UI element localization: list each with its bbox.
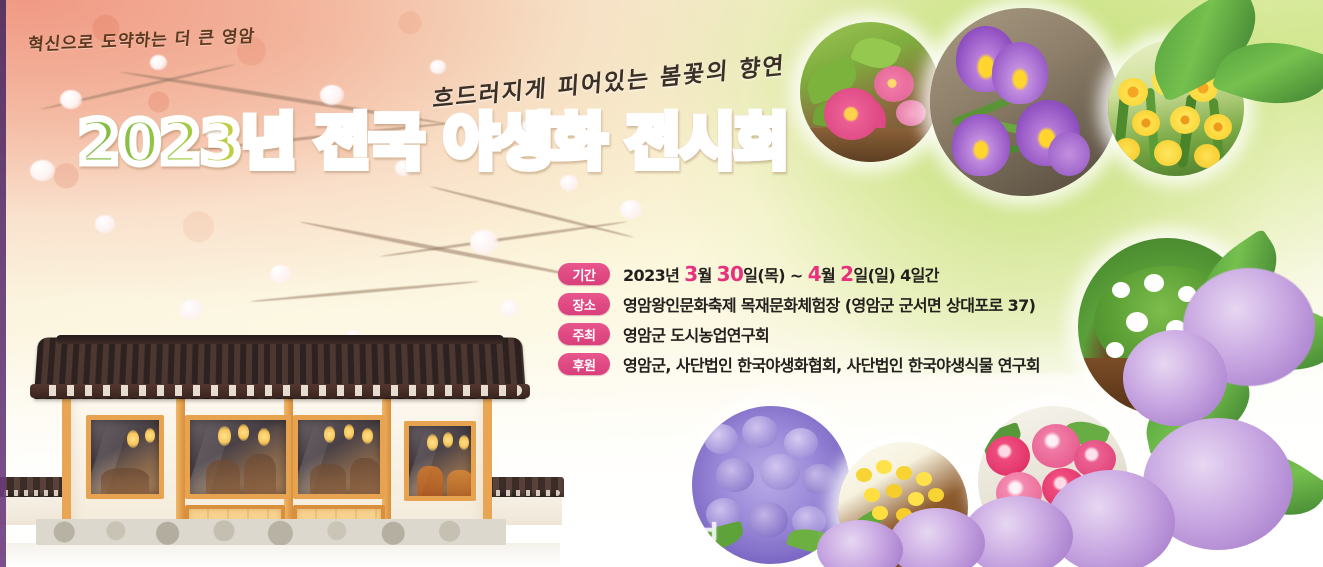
- blossom-petal: [150, 55, 167, 70]
- blossom-petal: [320, 85, 344, 105]
- info-row-sponsor: 후원 영암군, 사단법인 한국야생화협회, 사단법인 한국야생식물 연구회: [558, 349, 1040, 379]
- period-end-day: 2: [840, 262, 853, 286]
- info-text-venue: 영암왕인문화축제 목재문화체험장 (영암군 군서면 상대포로 37): [623, 292, 1035, 316]
- info-text-period: 2023년 3월 30일(목) ~ 4월 2일(일) 4일간: [623, 262, 939, 286]
- hanok-window: [185, 415, 291, 499]
- badge-sponsor: 후원: [558, 353, 610, 375]
- period-start-month: 3: [684, 262, 697, 286]
- hanok-illustration: [0, 327, 560, 567]
- event-info-block: 기간 2023년 3월 30일(목) ~ 4월 2일(일) 4일간 장소 영암왕…: [558, 259, 1040, 379]
- hanok-ground: [0, 543, 560, 567]
- period-month-unit: 월: [698, 266, 717, 285]
- festival-banner: 혁신으로 도약하는 더 큰 영암 흐드러지게 피어있는 봄꽃의 향연 2023년…: [0, 0, 1323, 567]
- purple-crocus-circle: [930, 8, 1118, 196]
- blossom-petal: [30, 160, 55, 181]
- hanok-post: [176, 395, 185, 535]
- info-text-sponsor: 영암군, 사단법인 한국야생화협회, 사단법인 한국야생식물 연구회: [623, 352, 1040, 376]
- period-month-unit-2: 월: [821, 266, 840, 285]
- blossom-petal: [180, 300, 203, 320]
- hanok-roof-dots: [38, 385, 522, 396]
- info-row-period: 기간 2023년 3월 30일(목) ~ 4월 2일(일) 4일간: [558, 259, 1040, 289]
- period-year: 2023년: [623, 266, 684, 285]
- blossom-petal: [270, 265, 291, 283]
- period-start-day: 30: [717, 262, 744, 286]
- hanok-window: [404, 421, 476, 501]
- period-end-suffix: 일(일) 4일간: [853, 266, 938, 285]
- badge-venue: 장소: [558, 293, 610, 315]
- page-title: 2023년 전국 야생화 전시회: [78, 113, 788, 173]
- hanok-stone-base: [36, 519, 506, 545]
- info-row-venue: 장소 영암왕인문화축제 목재문화체험장 (영암군 군서면 상대포로 37): [558, 289, 1040, 319]
- blossom-petal: [500, 300, 520, 317]
- blossom-petal: [60, 90, 82, 109]
- left-edge-bar: [0, 0, 6, 567]
- badge-host: 주최: [558, 323, 610, 345]
- hanok-window: [86, 415, 164, 499]
- period-end-month: 4: [808, 262, 821, 286]
- badge-period: 기간: [558, 263, 610, 285]
- hanok-wall-roof-right: [486, 477, 564, 497]
- period-start-suffix: 일(목) ~: [743, 266, 807, 285]
- pink-wildflower-circle: [800, 22, 940, 162]
- blossom-petal: [430, 60, 446, 74]
- info-row-host: 주최 영암군 도시농업연구회: [558, 319, 1040, 349]
- blossom-petal: [470, 230, 498, 254]
- page-title-text: 2023년 전국 야생화 전시회: [78, 113, 788, 173]
- hanok-roof-ridge: [56, 335, 504, 344]
- info-text-host: 영암군 도시농업연구회: [623, 322, 769, 346]
- hanok-window: [293, 415, 385, 499]
- blossom-petal: [95, 215, 115, 233]
- blossom-petal: [620, 200, 642, 219]
- lilac-cluster: [1123, 330, 1227, 426]
